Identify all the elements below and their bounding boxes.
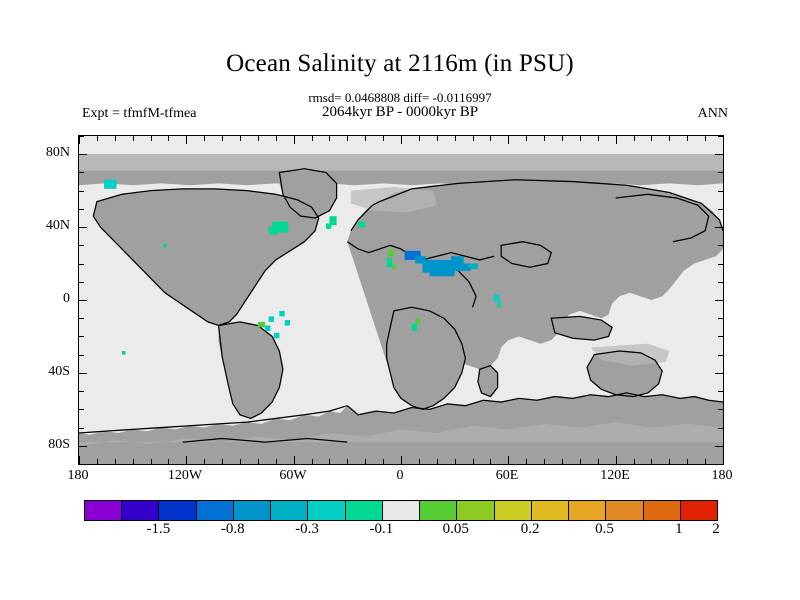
colorbar-labels: -1.5-0.8-0.3-0.10.050.20.512	[84, 521, 716, 545]
colorbar-cell-3	[197, 501, 234, 520]
y-tick-mark	[718, 209, 723, 210]
y-tick-mark	[79, 172, 84, 173]
x-tick-mark	[222, 136, 223, 141]
x-tick-mark	[508, 456, 509, 464]
x-tick-mark	[115, 136, 116, 141]
x-tick-mark	[437, 459, 438, 464]
y-tick-mark	[718, 245, 723, 246]
x-tick-mark	[97, 136, 98, 141]
colorbar-cell-6	[308, 501, 345, 520]
x-tick-mark	[312, 136, 313, 141]
x-tick-mark	[437, 136, 438, 141]
x-tick-mark	[526, 136, 527, 141]
x-tick-60w: 60W	[279, 468, 306, 484]
y-tick-mark	[718, 464, 723, 465]
y-tick-mark	[79, 282, 84, 283]
x-tick-mark	[473, 136, 474, 141]
y-tick-mark	[715, 227, 723, 228]
colorbar-cell-0	[85, 501, 122, 520]
x-tick-mark	[240, 136, 241, 141]
x-tick-mark	[151, 136, 152, 141]
colorbar-cell-4	[234, 501, 271, 520]
colorbar-label-7: 1	[675, 521, 683, 538]
colorbar	[84, 500, 718, 521]
x-tick-mark	[79, 456, 80, 464]
x-tick-mark	[258, 136, 259, 141]
x-tick-mark	[168, 136, 169, 141]
y-tick-mark	[79, 264, 84, 265]
x-tick-mark	[562, 136, 563, 141]
x-tick-mark	[669, 136, 670, 141]
x-tick-mark	[186, 456, 187, 464]
x-tick-mark	[419, 459, 420, 464]
colorbar-label-1: -0.8	[221, 521, 245, 538]
colorbar-cell-7	[346, 501, 383, 520]
y-tick-mark	[79, 428, 84, 429]
y-tick-mark	[79, 464, 84, 465]
x-tick-mark	[329, 459, 330, 464]
x-tick-mark	[276, 459, 277, 464]
colorbar-label-5: 0.2	[521, 521, 540, 538]
y-tick-mark	[715, 300, 723, 301]
y-tick-40s: 40S	[8, 364, 70, 380]
y-tick-mark	[718, 136, 723, 137]
x-tick-mark	[258, 459, 259, 464]
x-tick-mark	[240, 459, 241, 464]
colorbar-label-3: -0.1	[370, 521, 394, 538]
x-tick-mark	[634, 136, 635, 141]
x-tick-mark	[508, 136, 509, 144]
y-tick-mark	[718, 355, 723, 356]
y-tick-mark	[79, 446, 87, 447]
colorbar-label-4: 0.05	[443, 521, 469, 538]
y-tick-mark	[79, 336, 84, 337]
y-tick-80s: 80S	[8, 437, 70, 453]
x-tick-mark	[598, 459, 599, 464]
y-tick-mark	[718, 264, 723, 265]
world-map-plot	[78, 135, 724, 465]
y-tick-mark	[718, 391, 723, 392]
page-title: Ocean Salinity at 2116m (in PSU)	[0, 50, 800, 78]
experiment-label: Expt = tfmfM-tfmea	[82, 106, 196, 122]
y-tick-mark	[79, 373, 87, 374]
y-tick-mark	[79, 409, 84, 410]
y-tick-mark	[79, 227, 87, 228]
x-tick-mark	[204, 459, 205, 464]
x-tick-mark	[383, 136, 384, 141]
colorbar-cell-13	[569, 501, 606, 520]
y-tick-mark	[79, 209, 84, 210]
x-tick-mark	[365, 136, 366, 141]
x-tick-mark	[544, 459, 545, 464]
x-tick-mark	[294, 456, 295, 464]
x-tick-120w: 120W	[168, 468, 202, 484]
colorbar-cell-15	[644, 501, 681, 520]
y-tick-mark	[718, 191, 723, 192]
x-tick-mark	[723, 136, 724, 144]
season-label: ANN	[698, 106, 728, 122]
y-tick-mark	[715, 446, 723, 447]
x-tick-mark	[186, 136, 187, 144]
x-tick-mark	[276, 136, 277, 141]
x-tick-mark	[544, 136, 545, 141]
x-tick-mark	[705, 136, 706, 141]
x-tick-mark	[347, 136, 348, 141]
colorbar-cell-1	[122, 501, 159, 520]
colorbar-cell-5	[271, 501, 308, 520]
map-svg	[79, 136, 723, 464]
y-tick-mark	[718, 428, 723, 429]
y-tick-mark	[718, 409, 723, 410]
colorbar-cell-14	[606, 501, 643, 520]
x-tick-mark	[312, 459, 313, 464]
x-tick-mark	[526, 459, 527, 464]
y-tick-80n: 80N	[8, 145, 70, 161]
y-tick-mark	[718, 282, 723, 283]
x-tick-mark	[97, 459, 98, 464]
x-tick-mark	[401, 136, 402, 144]
x-tick-120e: 120E	[600, 468, 630, 484]
x-tick-mark	[455, 459, 456, 464]
colorbar-label-2: -0.3	[295, 521, 319, 538]
x-tick-mark	[419, 136, 420, 141]
x-tick-mark	[705, 459, 706, 464]
x-tick-mark	[401, 456, 402, 464]
x-tick-mark	[133, 136, 134, 141]
y-tick-mark	[718, 172, 723, 173]
x-tick-180w: 180	[68, 468, 89, 484]
x-tick-mark	[490, 459, 491, 464]
x-tick-mark	[115, 459, 116, 464]
x-tick-mark	[580, 459, 581, 464]
colorbar-cell-8	[383, 501, 420, 520]
y-tick-mark	[79, 191, 84, 192]
x-tick-60e: 60E	[496, 468, 519, 484]
x-tick-mark	[687, 136, 688, 141]
x-tick-mark	[133, 459, 134, 464]
y-tick-mark	[718, 336, 723, 337]
x-tick-mark	[365, 459, 366, 464]
colorbar-label-8: 2	[712, 521, 720, 538]
x-tick-mark	[383, 459, 384, 464]
x-tick-mark	[634, 459, 635, 464]
colorbar-cell-12	[532, 501, 569, 520]
y-tick-mark	[718, 318, 723, 319]
y-tick-mark	[715, 373, 723, 374]
colorbar-label-0: -1.5	[146, 521, 170, 538]
x-tick-mark	[616, 456, 617, 464]
y-tick-mark	[79, 318, 84, 319]
y-tick-40n: 40N	[8, 218, 70, 234]
x-tick-mark	[669, 459, 670, 464]
x-tick-mark	[723, 456, 724, 464]
x-tick-mark	[151, 459, 152, 464]
x-tick-mark	[616, 136, 617, 144]
colorbar-cell-16	[681, 501, 717, 520]
x-tick-mark	[687, 459, 688, 464]
x-tick-0: 0	[397, 468, 404, 484]
colorbar-cell-2	[159, 501, 196, 520]
x-tick-mark	[347, 459, 348, 464]
x-tick-180e: 180	[712, 468, 733, 484]
x-tick-mark	[79, 136, 80, 144]
y-tick-mark	[79, 391, 84, 392]
x-tick-mark	[562, 459, 563, 464]
x-tick-mark	[168, 459, 169, 464]
x-tick-mark	[651, 136, 652, 141]
y-tick-mark	[79, 136, 84, 137]
y-tick-mark	[79, 300, 87, 301]
x-tick-mark	[455, 136, 456, 141]
colorbar-cell-11	[495, 501, 532, 520]
y-tick-mark	[79, 355, 84, 356]
x-tick-mark	[598, 136, 599, 141]
x-tick-mark	[204, 136, 205, 141]
x-tick-mark	[294, 136, 295, 144]
x-tick-mark	[651, 459, 652, 464]
y-tick-mark	[715, 154, 723, 155]
colorbar-cell-10	[457, 501, 494, 520]
colorbar-cell-9	[420, 501, 457, 520]
x-tick-mark	[222, 459, 223, 464]
x-tick-mark	[490, 136, 491, 141]
x-tick-mark	[580, 136, 581, 141]
y-tick-0: 0	[8, 291, 70, 307]
x-axis: 180 120W 60W 0 60E 120E 180	[78, 468, 722, 490]
x-tick-mark	[329, 136, 330, 141]
y-axis: 80N 40N 0 40S 80S	[0, 135, 70, 465]
x-tick-mark	[473, 459, 474, 464]
colorbar-label-6: 0.5	[595, 521, 614, 538]
y-tick-mark	[79, 245, 84, 246]
y-tick-mark	[79, 154, 87, 155]
